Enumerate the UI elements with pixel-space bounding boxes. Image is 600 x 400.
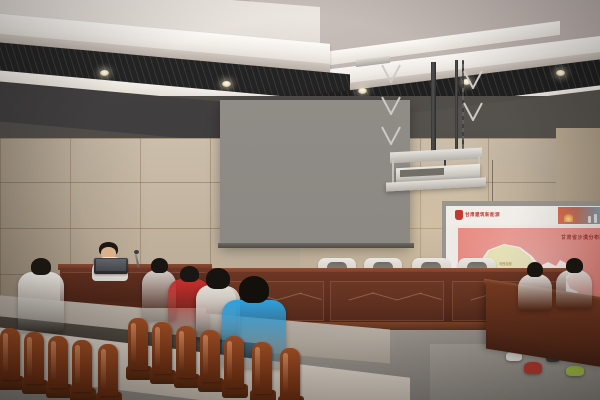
audience-chair[interactable]	[150, 322, 176, 386]
chair-highlight	[227, 341, 232, 381]
audience-chair[interactable]	[70, 340, 96, 400]
audience-chair[interactable]	[278, 348, 304, 400]
audience-chair[interactable]	[174, 326, 200, 390]
audience-chair[interactable]	[222, 336, 248, 400]
audience-chair[interactable]	[198, 330, 224, 394]
audience-chairs	[0, 0, 600, 400]
audience-chair[interactable]	[0, 328, 24, 392]
conference-room-scene: 甘肃建筑新能源 甘肃省沙漠分布图 河西走廊 兰州	[0, 0, 600, 400]
audience-chair[interactable]	[46, 336, 72, 400]
chair-highlight	[155, 327, 160, 367]
chair-highlight	[27, 337, 32, 377]
audience-chair[interactable]	[126, 318, 152, 382]
audience-chair[interactable]	[250, 342, 276, 400]
chair-highlight	[101, 349, 106, 389]
chair-highlight	[131, 323, 136, 363]
chair-highlight	[203, 335, 208, 375]
chair-highlight	[51, 341, 56, 381]
chair-highlight	[179, 331, 184, 371]
audience-chair[interactable]	[22, 332, 48, 396]
audience-chair[interactable]	[96, 344, 122, 400]
chair-highlight	[75, 345, 80, 385]
chair-highlight	[283, 353, 288, 393]
chair-highlight	[3, 333, 8, 373]
chair-highlight	[255, 347, 260, 387]
